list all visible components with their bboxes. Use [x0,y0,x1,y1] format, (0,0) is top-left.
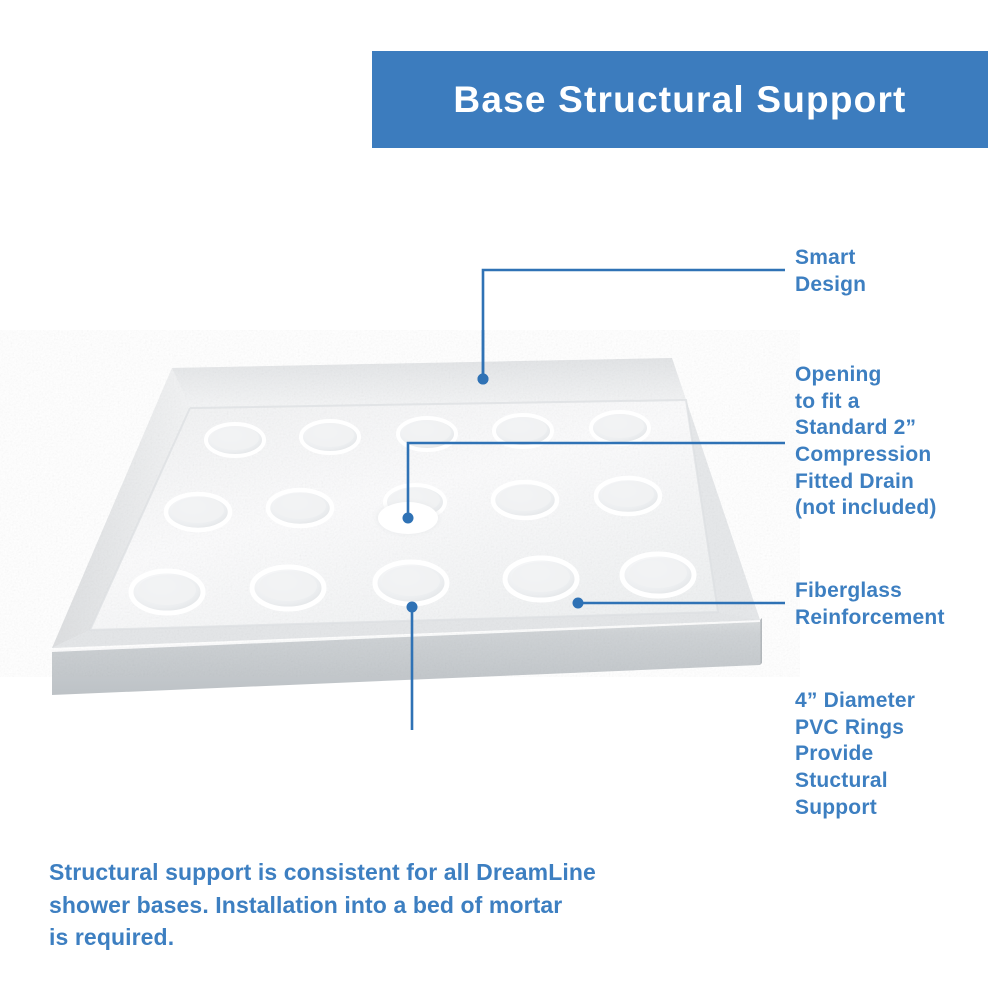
pvc-ring [505,558,577,600]
callout-line: Stuctural [795,768,995,795]
callout-line: Support [795,795,995,822]
callout-line: Smart [795,245,995,272]
callout-line: Fiberglass [795,578,1000,605]
pvc-ring [591,412,649,444]
callout-line: (not included) [795,495,1000,522]
pvc-ring [301,421,359,453]
pvc-ring [206,424,264,456]
callout-line: Standard 2” [795,415,1000,442]
header-banner: Base Structural Support [372,51,988,148]
callout-line: Provide [795,741,995,768]
callout-label-drain-opening: Opening to fit a Standard 2” Compression… [795,362,1000,522]
pvc-ring [166,494,230,530]
caption-line: Structural support is consistent for all… [49,856,689,889]
pvc-ring [131,571,203,613]
page-title: Base Structural Support [453,81,906,118]
pvc-ring [375,562,447,604]
callout-label-smart-design: Smart Design [795,245,995,298]
pvc-ring [622,554,694,596]
callout-label-pvc-rings: 4” Diameter PVC Rings Provide Stuctural … [795,688,995,821]
product-illustration [0,330,800,730]
leader-dot-fiberglass [573,598,584,609]
callout-line: Design [795,272,995,299]
leader-dot-smart-design [478,374,489,385]
callout-line: Compression [795,442,1000,469]
pvc-ring [596,478,660,514]
caption-line: is required. [49,921,689,954]
pvc-ring [252,567,324,609]
callout-line: PVC Rings [795,715,995,742]
bottom-caption: Structural support is consistent for all… [49,856,689,954]
base-right-face [760,618,762,665]
shower-base-svg [0,330,800,730]
leader-dot-pvc-rings [407,602,418,613]
leader-dot-drain-opening [403,513,414,524]
callout-line: Reinforcement [795,605,1000,632]
pvc-ring [493,482,557,518]
caption-line: shower bases. Installation into a bed of… [49,889,689,922]
callout-label-fiberglass-reinforcement: Fiberglass Reinforcement [795,578,1000,631]
callout-line: Fitted Drain [795,469,1000,496]
callout-line: Opening [795,362,1000,389]
callout-line: 4” Diameter [795,688,995,715]
callout-line: to fit a [795,389,1000,416]
pvc-ring [268,490,332,526]
